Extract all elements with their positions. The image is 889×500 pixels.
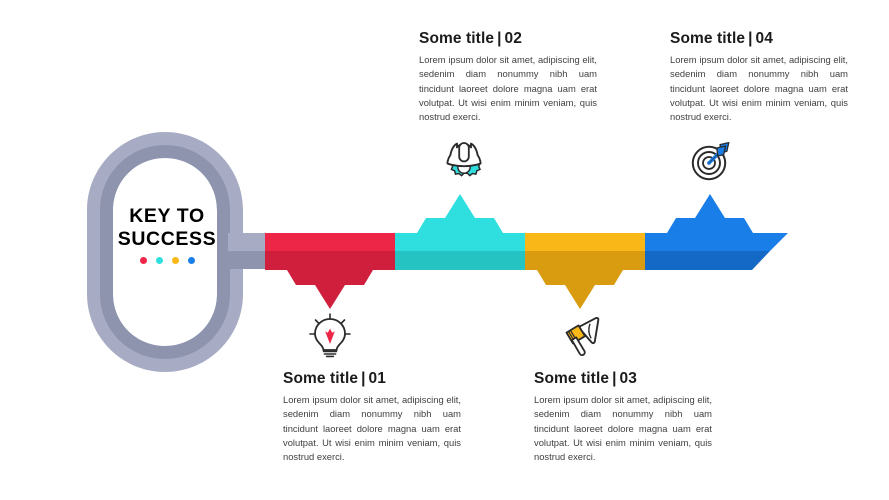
info-block-02-number: 02 [505, 30, 522, 47]
info-block-04-title-text: Some title [670, 30, 745, 47]
info-block-01-number: 01 [369, 370, 386, 387]
info-block-01-title-text: Some title [283, 370, 358, 387]
info-block-01-body: Lorem ipsum dolor sit amet, adipiscing e… [283, 393, 461, 464]
info-block-03-title-text: Some title [534, 370, 609, 387]
center-label: KEY TO SUCCESS [85, 205, 249, 264]
segment-01-top [265, 233, 395, 251]
dot-04 [188, 257, 195, 264]
segment-02[interactable] [395, 194, 525, 270]
segment-02-top [395, 194, 525, 251]
lightbulb-icon [310, 314, 350, 356]
segment-04[interactable] [645, 194, 788, 270]
info-block-04[interactable]: Some title|04 Lorem ipsum dolor sit amet… [670, 30, 848, 124]
segment-04-top [645, 194, 788, 251]
megaphone-icon [567, 318, 599, 355]
segment-03[interactable] [525, 233, 645, 309]
segment-03-top [525, 233, 645, 251]
segment-01-bottom [265, 251, 395, 309]
segment-01[interactable] [265, 233, 395, 309]
info-block-04-title: Some title|04 [670, 30, 848, 48]
safety-helmet-gear-icon [447, 143, 480, 176]
info-block-04-body: Lorem ipsum dolor sit amet, adipiscing e… [670, 53, 848, 124]
infographic-canvas: KEY TO SUCCESS Some title|01 Lorem ipsum… [0, 0, 889, 500]
dot-02 [156, 257, 163, 264]
info-block-01-title: Some title|01 [283, 370, 461, 388]
info-block-02[interactable]: Some title|02 Lorem ipsum dolor sit amet… [419, 30, 597, 124]
info-block-02-title-text: Some title [419, 30, 494, 47]
segment-03-bottom [525, 251, 645, 309]
dot-03 [172, 257, 179, 264]
info-block-03-title: Some title|03 [534, 370, 712, 388]
info-block-01-separator: | [358, 370, 368, 387]
center-label-line2: SUCCESS [85, 228, 249, 251]
info-block-03-body: Lorem ipsum dolor sit amet, adipiscing e… [534, 393, 712, 464]
target-dart-icon [693, 143, 729, 180]
center-label-line1: KEY TO [85, 205, 249, 228]
segment-04-bottom [645, 251, 770, 270]
info-block-04-number: 04 [756, 30, 773, 47]
info-block-02-body: Lorem ipsum dolor sit amet, adipiscing e… [419, 53, 597, 124]
info-block-03-separator: | [609, 370, 619, 387]
info-block-04-separator: | [745, 30, 755, 47]
dot-01 [140, 257, 147, 264]
info-block-03[interactable]: Some title|03 Lorem ipsum dolor sit amet… [534, 370, 712, 464]
center-label-dots [85, 257, 249, 264]
segment-02-bottom [395, 251, 525, 270]
info-block-02-separator: | [494, 30, 504, 47]
info-block-03-number: 03 [620, 370, 637, 387]
info-block-02-title: Some title|02 [419, 30, 597, 48]
info-block-01[interactable]: Some title|01 Lorem ipsum dolor sit amet… [283, 370, 461, 464]
